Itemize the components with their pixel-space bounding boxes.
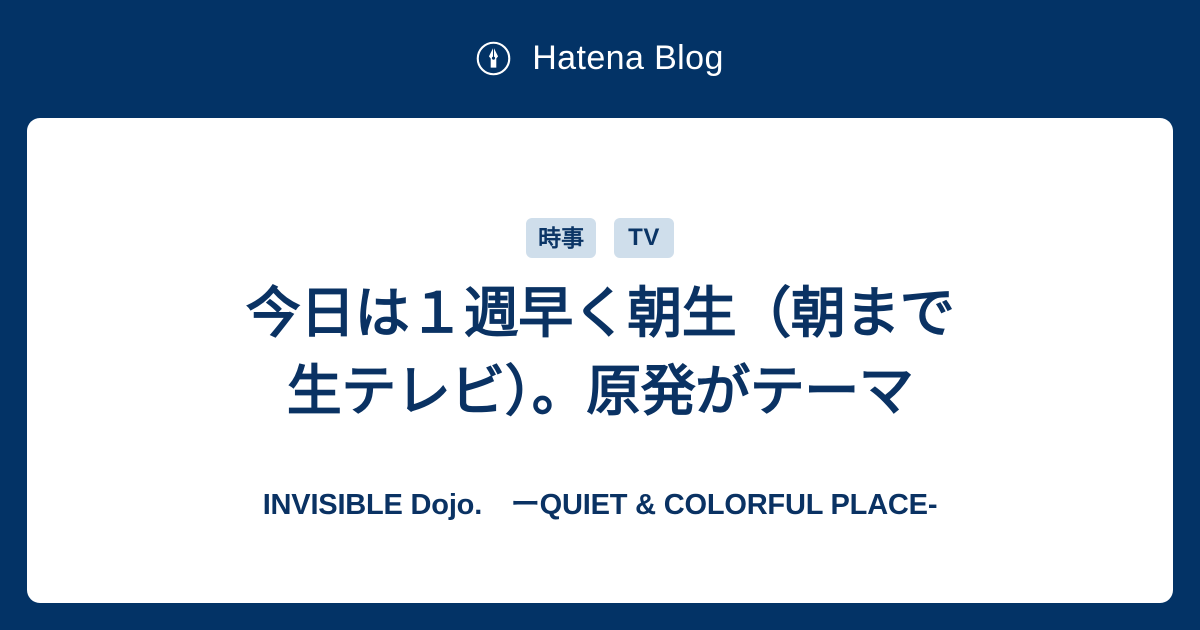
service-name: Hatena Blog	[532, 41, 724, 75]
entry-title[interactable]: 今日は１週早く朝生（朝まで生テレビ）。原発がテーマ	[220, 274, 980, 430]
hatena-blog-logo[interactable]: Hatena Blog	[476, 41, 724, 76]
service-header: Hatena Blog	[0, 0, 1200, 118]
tag-list: 時事 TV	[526, 218, 674, 258]
pen-nib-icon	[476, 41, 511, 76]
blog-name[interactable]: INVISIBLE Dojo. ーQUIET & COLORFUL PLACE-	[263, 488, 938, 523]
tag-item-tv[interactable]: TV	[614, 218, 674, 258]
tag-item-jiji[interactable]: 時事	[526, 218, 596, 258]
entry-card: 時事 TV 今日は１週早く朝生（朝まで生テレビ）。原発がテーマ INVISIBL…	[27, 118, 1173, 603]
